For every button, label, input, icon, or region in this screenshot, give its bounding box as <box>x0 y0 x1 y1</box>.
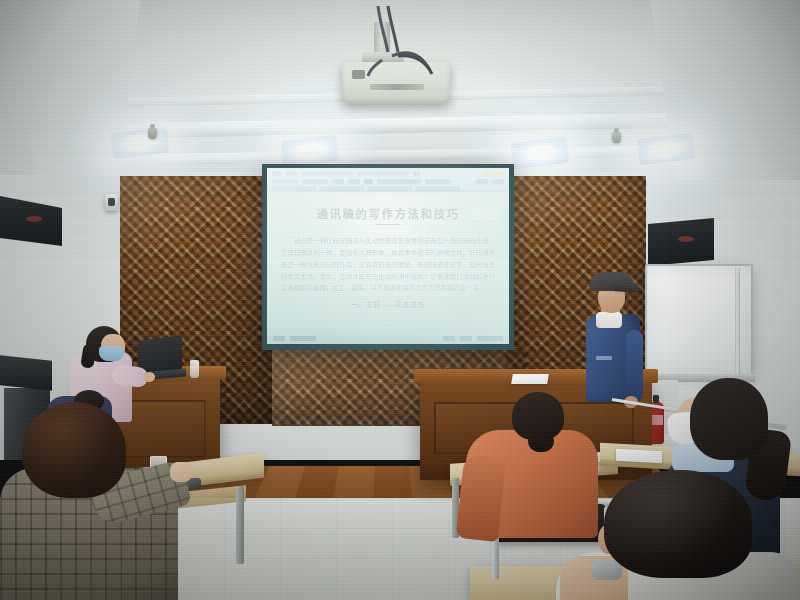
attendee-orange-head <box>512 392 564 440</box>
ribbon-menu-item[interactable] <box>332 179 344 184</box>
close-icon[interactable] <box>413 171 420 176</box>
ribbon-tool-icon[interactable] <box>492 179 504 184</box>
document-tab[interactable] <box>301 171 353 176</box>
attendee-navy-hair <box>690 378 768 460</box>
presenter-shirt-collar <box>596 312 622 328</box>
desktop-monitor <box>0 355 52 390</box>
view-mode-icon[interactable] <box>443 336 455 341</box>
presenter-cap-brim <box>614 283 639 293</box>
toolbar-chip[interactable] <box>285 171 297 176</box>
slide-body-text: 通讯是一种比较详细深入生动地报道客观事物或典型人物的新闻体裁。它是记叙文的一种，… <box>281 236 495 295</box>
sprinkler-head <box>612 132 621 143</box>
ribbon-tool-icon[interactable] <box>364 179 373 184</box>
paper-documents <box>616 449 662 463</box>
status-bar-item <box>273 336 285 341</box>
projection-screen: 通讯稿的写作方法和技巧 通讯是一种比较详细深入生动地报道客观事物或典型人物的新闻… <box>262 164 514 350</box>
ribbon-menu-item[interactable] <box>272 179 298 184</box>
ribbon-tool-icon[interactable] <box>476 179 488 184</box>
attendee-plaid-hand <box>170 462 192 482</box>
wall-speaker-right <box>648 218 714 266</box>
toolbar-row-tabs[interactable] <box>267 169 509 177</box>
ribbon-tool-group[interactable] <box>377 179 421 184</box>
zoom-slider[interactable] <box>477 336 503 341</box>
attendee-front-hair <box>604 470 752 578</box>
whiteboard-pole <box>735 268 740 388</box>
security-camera-icon <box>105 194 118 211</box>
toolbar-row-ribbon[interactable] <box>267 178 509 185</box>
paper-documents <box>511 374 549 384</box>
ruler-segment <box>416 186 460 191</box>
ruler-segment <box>272 186 316 191</box>
operator-hand <box>144 372 155 382</box>
view-mode-icon[interactable] <box>460 336 472 341</box>
attendee-plaid-hair <box>22 402 126 498</box>
slide-title: 通讯稿的写作方法和技巧 <box>281 206 495 222</box>
slide-corner-mark <box>471 208 501 219</box>
operator-face-mask <box>99 346 124 361</box>
slide-title-rule <box>375 224 401 225</box>
ribbon-tool-group[interactable] <box>425 179 451 184</box>
toolbar-row-ruler <box>267 185 509 191</box>
status-bar-item <box>290 336 316 341</box>
account-badge[interactable] <box>482 171 504 176</box>
ruler-segment <box>368 186 412 191</box>
attendee-orange-arm <box>456 454 507 542</box>
app-logo-icon <box>272 171 281 176</box>
presenter-jacket-pocket <box>596 356 612 360</box>
speaker-logo <box>678 236 694 242</box>
presenter-arm <box>626 330 643 400</box>
document-tab[interactable] <box>357 171 409 176</box>
ruler-segment <box>320 186 364 191</box>
audience-desk-left-leg <box>236 486 244 564</box>
projection-screen-surface: 通讯稿的写作方法和技巧 通讯是一种比较详细深入生动地报道客观事物或典型人物的新闻… <box>267 168 509 344</box>
presentation-status-bar[interactable] <box>267 333 509 344</box>
water-bottle <box>190 360 199 378</box>
sprinkler-head <box>148 128 157 139</box>
classroom-scene: 通讯稿的写作方法和技巧 通讯是一种比较详细深入生动地报道客观事物或典型人物的新闻… <box>0 0 800 600</box>
ribbon-menu-item[interactable] <box>302 179 328 184</box>
presentation-app-toolbar[interactable] <box>267 168 509 192</box>
projector-cables-icon <box>336 4 476 84</box>
speaker-logo <box>26 216 42 222</box>
ribbon-menu-item[interactable] <box>348 179 360 184</box>
slide-subtitle: 一、主题——高度提炼 <box>281 299 495 309</box>
